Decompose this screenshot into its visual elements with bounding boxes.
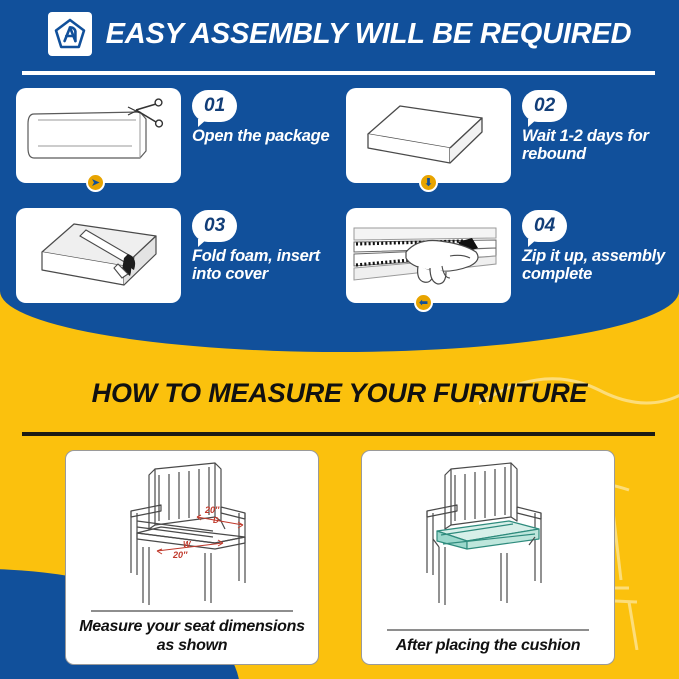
step-number-badge: 01 [192,90,237,122]
header-divider [22,71,655,75]
house-pentagon-logo-icon [48,12,92,56]
rolled-package-with-scissors-illustration: ➤ [16,88,181,183]
hand-zipping-zipper-illustration: ⬅ [346,208,511,303]
right-arrow-icon: ➤ [86,173,105,192]
panel-caption: Measure your seat dimensions as shown [66,618,318,664]
step-text: 03 Fold foam, insert into cover [192,208,336,284]
measure-panels: 20″ D W 20″ Measure your seat dimensions… [65,450,615,665]
measure-title: HOW TO MEASURE YOUR FURNITURE [0,378,679,409]
chair-with-dimension-arrows-illustration: 20″ D W 20″ [66,451,318,610]
step-number-badge: 03 [192,210,237,242]
step-label: Zip it up, assembly complete [522,247,666,284]
left-arrow-icon: ⬅ [414,293,433,312]
step-text: 02 Wait 1-2 days for rebound [522,88,666,164]
folded-foam-into-cover-illustration [16,208,181,303]
step-label: Fold foam, insert into cover [192,247,336,284]
assembly-section: EASY ASSEMBLY WILL BE REQUIRED [0,0,679,352]
step-grid: ➤ 01 Open the package ⬇ [16,88,666,320]
panel-divider [387,629,589,631]
step-label: Open the package [192,127,336,145]
infographic-root: EASY ASSEMBLY WILL BE REQUIRED [0,0,679,679]
step-item: ⬇ 02 Wait 1-2 days for rebound [346,88,666,200]
step-text: 04 Zip it up, assembly complete [522,208,666,284]
step-item: ⬅ 04 Zip it up, assembly complete [346,208,666,320]
header: EASY ASSEMBLY WILL BE REQUIRED [0,0,679,68]
step-number-badge: 04 [522,210,567,242]
step-number-badge: 02 [522,90,567,122]
svg-text:20″: 20″ [204,505,220,515]
flat-foam-cushion-illustration: ⬇ [346,88,511,183]
panel-divider [91,610,293,612]
down-arrow-icon: ⬇ [419,173,438,192]
svg-text:D: D [213,516,219,525]
panel-caption: After placing the cushion [390,637,587,664]
step-item: 03 Fold foam, insert into cover [16,208,336,320]
step-text: 01 Open the package [192,88,336,145]
step-item: ➤ 01 Open the package [16,88,336,200]
header-title: EASY ASSEMBLY WILL BE REQUIRED [106,18,632,51]
step-label: Wait 1-2 days for rebound [522,127,666,164]
measure-panel: After placing the cushion [361,450,615,665]
measure-divider [22,432,655,436]
svg-text:W: W [183,540,192,549]
chair-with-teal-cushion-illustration [362,451,614,629]
svg-text:20″: 20″ [172,550,188,560]
measure-panel: 20″ D W 20″ Measure your seat dimensions… [65,450,319,665]
